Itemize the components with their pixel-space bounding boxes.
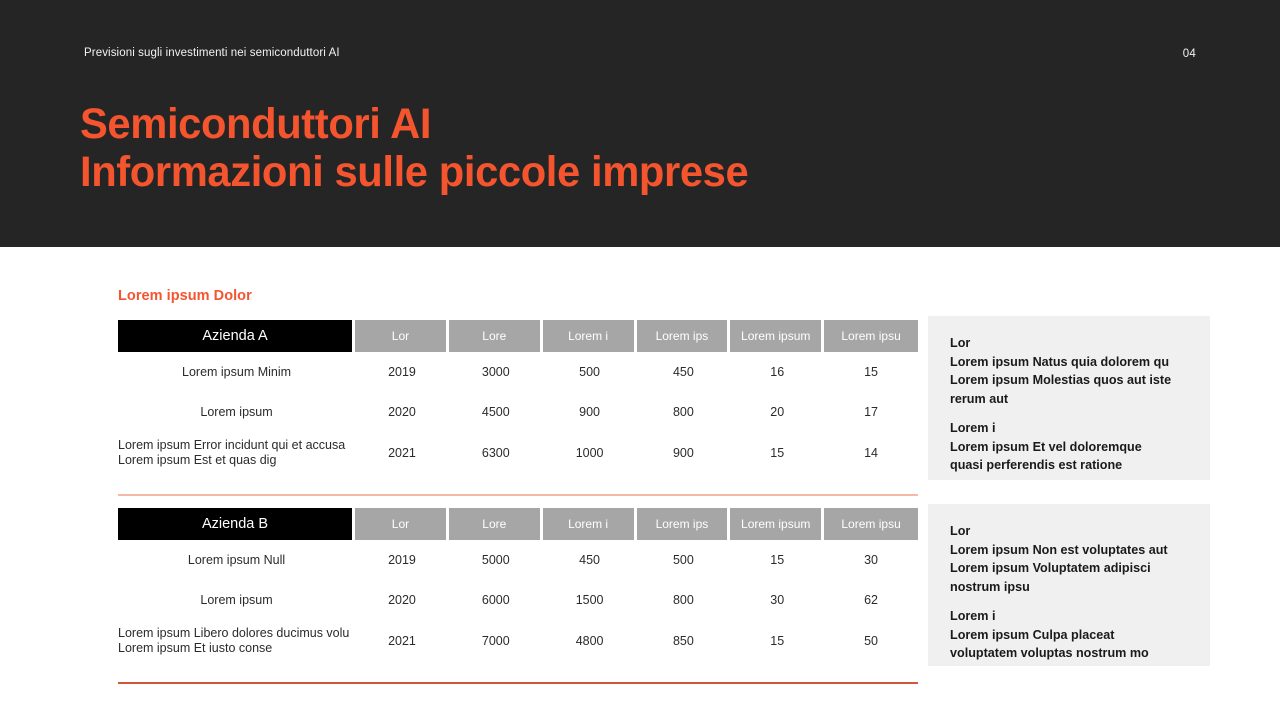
table-row-label: Lorem ipsum Error incidunt qui et accusa… xyxy=(118,432,355,474)
note-panel-azienda-b: Lor Lorem ipsum Non est voluptates aut L… xyxy=(928,504,1210,666)
table-cell: 500 xyxy=(543,352,637,392)
table-row-label: Lorem ipsum xyxy=(118,580,355,620)
table-cell: 1000 xyxy=(543,432,637,474)
table-body: Lorem ipsum Null 2019 5000 450 500 15 30… xyxy=(118,540,918,662)
table-bottom-rule xyxy=(118,494,918,496)
note-body-line: Lorem ipsum Et vel doloremque xyxy=(950,438,1188,457)
table-row-label-line-2: Lorem ipsum Est et quas dig xyxy=(118,453,276,467)
slide-body: Lorem ipsum Dolor Azienda A Lor Lore Lor… xyxy=(0,247,1280,720)
table-company-header: Azienda B xyxy=(118,508,355,540)
table-column-header: Lorem ips xyxy=(637,320,731,352)
note-body: Lorem ipsum Culpa placeat voluptatem vol… xyxy=(950,626,1188,663)
table-header: Azienda B Lor Lore Lorem i Lorem ips Lor… xyxy=(118,508,918,540)
note-group: Lorem i Lorem ipsum Culpa placeat volupt… xyxy=(950,607,1188,663)
note-body-line: Lorem ipsum Natus quia dolorem qu xyxy=(950,353,1188,372)
note-group: Lorem i Lorem ipsum Et vel doloremque qu… xyxy=(950,419,1188,475)
table-cell: 900 xyxy=(543,392,637,432)
table-cell: 50 xyxy=(824,620,918,662)
table-cell: 2020 xyxy=(355,392,449,432)
table-column-header: Lorem ips xyxy=(637,508,731,540)
data-table: Azienda A Lor Lore Lorem i Lorem ips Lor… xyxy=(118,320,918,474)
note-body-line: Lorem ipsum Molestias quos aut iste xyxy=(950,371,1188,390)
note-body: Lorem ipsum Et vel doloremque quasi perf… xyxy=(950,438,1188,475)
table-column-header: Lorem ipsu xyxy=(824,508,918,540)
page-title-line-2: Informazioni sulle piccole imprese xyxy=(80,148,1050,196)
table-column-header: Lorem i xyxy=(543,320,637,352)
page-title-line-1: Semiconduttori AI xyxy=(80,100,1050,148)
table-cell: 16 xyxy=(730,352,824,392)
slide-page-number: 04 xyxy=(1183,48,1196,60)
table-cell: 30 xyxy=(730,580,824,620)
table-column-header: Lore xyxy=(449,508,543,540)
table-row: Lorem ipsum Libero dolores ducimus volu … xyxy=(118,620,918,662)
table-header-row: Azienda B Lor Lore Lorem i Lorem ips Lor… xyxy=(118,508,918,540)
table-cell: 3000 xyxy=(449,352,543,392)
table-company-header: Azienda A xyxy=(118,320,355,352)
table-row-label: Lorem ipsum Minim xyxy=(118,352,355,392)
note-body: Lorem ipsum Natus quia dolorem qu Lorem … xyxy=(950,353,1188,409)
table-cell: 6000 xyxy=(449,580,543,620)
table-cell: 30 xyxy=(824,540,918,580)
table-cell: 4800 xyxy=(543,620,637,662)
note-body-line: Lorem ipsum Non est voluptates aut xyxy=(950,541,1188,560)
table-cell: 2021 xyxy=(355,620,449,662)
table-row: Lorem ipsum Minim 2019 3000 500 450 16 1… xyxy=(118,352,918,392)
note-group: Lor Lorem ipsum Natus quia dolorem qu Lo… xyxy=(950,334,1188,408)
table-column-header: Lorem ipsum xyxy=(730,320,824,352)
table-row: Lorem ipsum Error incidunt qui et accusa… xyxy=(118,432,918,474)
data-table: Azienda B Lor Lore Lorem i Lorem ips Lor… xyxy=(118,508,918,662)
note-group: Lor Lorem ipsum Non est voluptates aut L… xyxy=(950,522,1188,596)
table-bottom-rule xyxy=(118,682,918,684)
table-cell: 500 xyxy=(637,540,731,580)
table-cell: 2020 xyxy=(355,580,449,620)
table-cell: 6300 xyxy=(449,432,543,474)
table-cell: 20 xyxy=(730,392,824,432)
section-label: Lorem ipsum Dolor xyxy=(118,288,252,304)
table-row-label-line-1: Lorem ipsum Error incidunt qui et accusa xyxy=(118,438,345,452)
table-cell: 15 xyxy=(730,620,824,662)
table-row-label-line-2: Lorem ipsum Et iusto conse xyxy=(118,641,272,655)
table-cell: 450 xyxy=(637,352,731,392)
table-cell: 800 xyxy=(637,392,731,432)
table-cell: 2021 xyxy=(355,432,449,474)
table-cell: 800 xyxy=(637,580,731,620)
slide-eyebrow-text: Previsioni sugli investimenti nei semico… xyxy=(84,47,340,59)
table-cell: 62 xyxy=(824,580,918,620)
table-body: Lorem ipsum Minim 2019 3000 500 450 16 1… xyxy=(118,352,918,474)
table-row: Lorem ipsum Null 2019 5000 450 500 15 30 xyxy=(118,540,918,580)
note-heading: Lorem i xyxy=(950,607,1188,626)
note-body-line: Lorem ipsum Culpa placeat xyxy=(950,626,1188,645)
table-cell: 900 xyxy=(637,432,731,474)
table-cell: 15 xyxy=(730,540,824,580)
note-body: Lorem ipsum Non est voluptates aut Lorem… xyxy=(950,541,1188,597)
table-row: Lorem ipsum 2020 6000 1500 800 30 62 xyxy=(118,580,918,620)
table-cell: 2019 xyxy=(355,352,449,392)
table-column-header: Lorem ipsum xyxy=(730,508,824,540)
note-body-line: quasi perferendis est ratione xyxy=(950,456,1188,475)
note-heading: Lorem i xyxy=(950,419,1188,438)
table-header: Azienda A Lor Lore Lorem i Lorem ips Lor… xyxy=(118,320,918,352)
table-cell: 7000 xyxy=(449,620,543,662)
table-column-header: Lor xyxy=(355,320,449,352)
table-column-header: Lore xyxy=(449,320,543,352)
table-column-header: Lor xyxy=(355,508,449,540)
table-cell: 2019 xyxy=(355,540,449,580)
note-body-line: rerum aut xyxy=(950,390,1188,409)
table-cell: 850 xyxy=(637,620,731,662)
page-title: Semiconduttori AI Informazioni sulle pic… xyxy=(80,100,1050,196)
table-column-header: Lorem i xyxy=(543,508,637,540)
table-cell: 15 xyxy=(824,352,918,392)
table-cell: 14 xyxy=(824,432,918,474)
table-header-row: Azienda A Lor Lore Lorem i Lorem ips Lor… xyxy=(118,320,918,352)
table-block-azienda-b: Azienda B Lor Lore Lorem i Lorem ips Lor… xyxy=(118,508,918,684)
table-column-header: Lorem ipsu xyxy=(824,320,918,352)
table-cell: 5000 xyxy=(449,540,543,580)
note-body-line: voluptatem voluptas nostrum mo xyxy=(950,644,1188,663)
slide-header-band: Previsioni sugli investimenti nei semico… xyxy=(0,0,1280,247)
note-heading: Lor xyxy=(950,522,1188,541)
note-panel-azienda-a: Lor Lorem ipsum Natus quia dolorem qu Lo… xyxy=(928,316,1210,480)
note-body-line: nostrum ipsu xyxy=(950,578,1188,597)
table-cell: 4500 xyxy=(449,392,543,432)
table-cell: 1500 xyxy=(543,580,637,620)
note-body-line: Lorem ipsum Voluptatem adipisci xyxy=(950,559,1188,578)
table-row: Lorem ipsum 2020 4500 900 800 20 17 xyxy=(118,392,918,432)
table-block-azienda-a: Azienda A Lor Lore Lorem i Lorem ips Lor… xyxy=(118,320,918,496)
table-cell: 450 xyxy=(543,540,637,580)
note-heading: Lor xyxy=(950,334,1188,353)
table-cell: 15 xyxy=(730,432,824,474)
table-row-label: Lorem ipsum Libero dolores ducimus volu … xyxy=(118,620,355,662)
table-cell: 17 xyxy=(824,392,918,432)
table-row-label: Lorem ipsum xyxy=(118,392,355,432)
table-row-label: Lorem ipsum Null xyxy=(118,540,355,580)
table-row-label-line-1: Lorem ipsum Libero dolores ducimus volu xyxy=(118,626,349,640)
